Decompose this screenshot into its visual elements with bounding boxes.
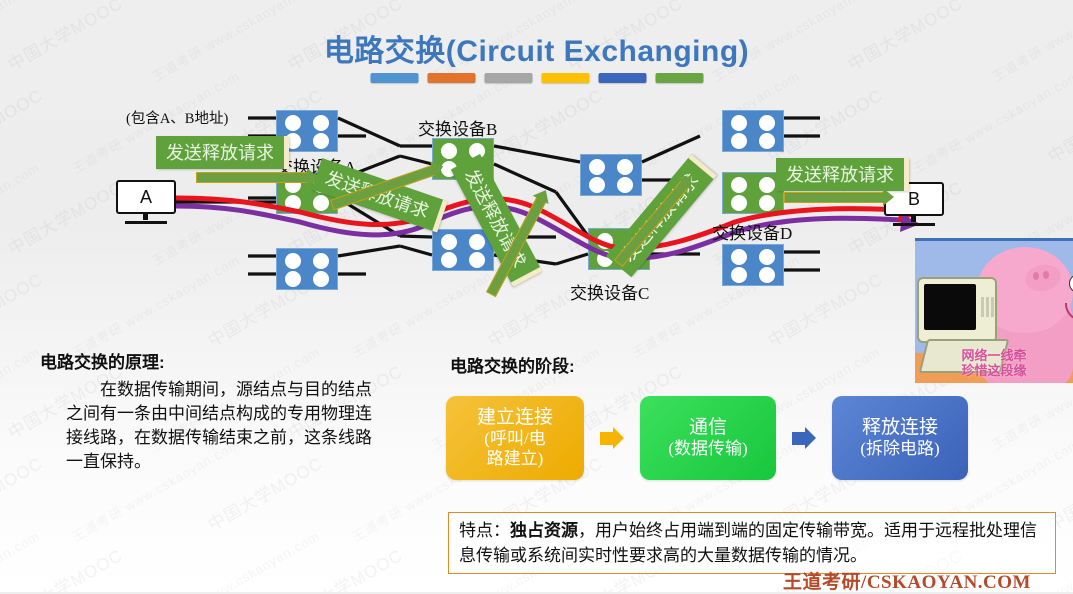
feature-box: 特点：独占资源，用户始终占用端到端的固定传输带宽。适用于远程批处理信息传输或系统…	[448, 512, 1056, 574]
stage-box-establish[interactable]: 建立连接 (呼叫/电 路建立)	[446, 396, 584, 480]
host-b-base	[893, 223, 935, 226]
stage-box-release[interactable]: 释放连接 (拆除电路)	[832, 396, 968, 480]
title-bar-5	[598, 73, 646, 83]
meme-pig-snout	[1023, 262, 1064, 295]
stage-arrow-1	[600, 432, 622, 445]
stages-heading: 电路交换的阶段:	[450, 352, 575, 377]
stage-arrow-2	[792, 432, 814, 445]
host-a[interactable]: A	[116, 180, 176, 226]
principle-body: 在数据传输期间，源结点与目的结点之间有一条由中间结点构成的专用物理连接线路，在数…	[66, 378, 388, 475]
title-bar-1	[370, 73, 418, 83]
stage-establish-line2: (呼叫/电	[484, 429, 545, 449]
meme-snout-nostril	[1043, 271, 1049, 279]
title-bar-6	[655, 73, 703, 83]
switch-label-c: 交换设备C	[570, 279, 649, 304]
meme-caption: 网络一线牵 珍惜这段缘	[919, 349, 1069, 379]
banner-arrow-a	[196, 172, 308, 183]
banner-arrow-e	[784, 192, 884, 203]
feature-bold: 独占资源	[510, 521, 578, 540]
stage-release-line2: (拆除电路)	[860, 439, 939, 459]
stage-communicate-line1: 通信	[689, 417, 727, 439]
principle-heading: 电路交换的原理:	[40, 348, 165, 373]
footer-watermark: 王道考研/CSKAOYAN.COM	[0, 567, 1073, 594]
meme-caption-line1: 网络一线牵	[919, 349, 1069, 364]
host-a-base	[125, 221, 167, 224]
stage-box-communicate[interactable]: 通信 (数据传输)	[640, 396, 776, 480]
stage-release-line1: 释放连接	[862, 417, 938, 439]
host-a-dot	[144, 215, 148, 219]
title-bar-3	[484, 73, 532, 83]
stage-establish-line1: 建立连接	[477, 407, 553, 429]
meme-computer-monitor	[917, 277, 997, 343]
switch-label-b: 交换设备B	[418, 115, 497, 140]
stage-communicate-line2: (数据传输)	[668, 439, 747, 459]
switch-label-d: 交换设备D	[712, 219, 792, 244]
meme-pig-eye	[1069, 274, 1073, 293]
address-note: (包含A、B地址)	[126, 110, 234, 128]
title-bar-2	[427, 73, 475, 83]
page-title: 电路交换(Circuit Exchanging)	[0, 26, 1073, 70]
host-b-dot	[912, 217, 916, 221]
stage-establish-line3: 路建立)	[487, 449, 544, 469]
slide-canvas: 电路交换(Circuit Exchanging)	[0, 0, 1073, 592]
meme-caption-line2: 珍惜这段缘	[919, 364, 1069, 379]
network-diagram: A B (包含A、B地址) 交换设备A 交换设备B 交换设备C 交换设备D 发送…	[0, 96, 1073, 326]
banner-send-release-e: 发送释放请求	[776, 158, 909, 191]
meme-snout-nostril	[1033, 272, 1039, 280]
feature-prefix: 特点：	[459, 521, 510, 540]
title-bar-4	[541, 73, 589, 83]
banner-send-release-a: 发送释放请求	[156, 136, 289, 169]
peppa-meme-image: 网络一线牵 珍惜这段缘	[915, 238, 1073, 383]
host-a-label: A	[116, 180, 176, 214]
title-underline-bars	[370, 73, 703, 83]
